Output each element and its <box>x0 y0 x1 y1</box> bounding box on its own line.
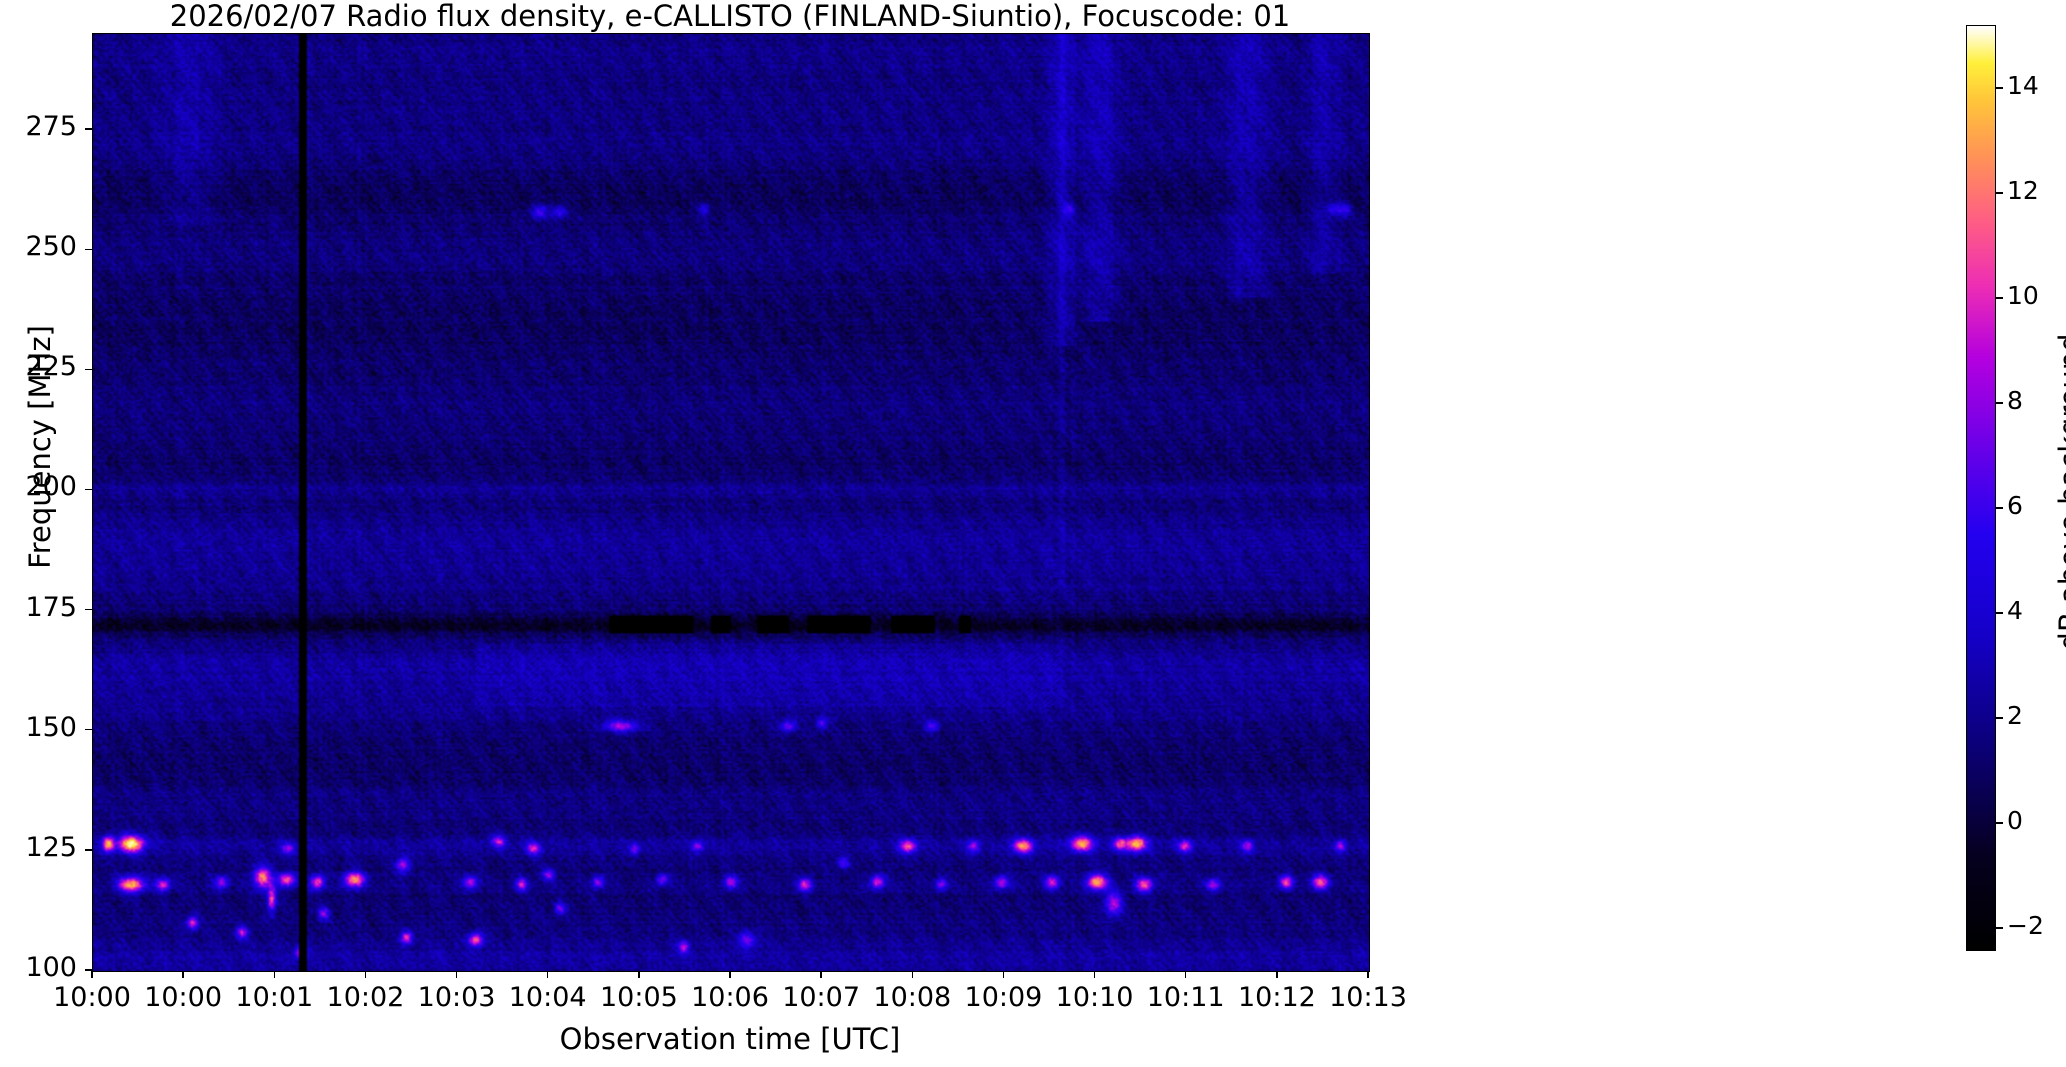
x-tick-mark <box>274 971 275 978</box>
x-tick-label: 10:01 <box>235 982 313 1013</box>
x-tick-mark <box>638 971 639 978</box>
x-tick-mark <box>912 971 913 978</box>
figure-root: 2026/02/07 Radio flux density, e-CALLIST… <box>0 0 2066 1067</box>
y-tick-label: 250 <box>0 231 77 262</box>
x-tick-label: 10:00 <box>53 982 131 1013</box>
x-tick-mark <box>91 971 92 978</box>
x-tick-label: 10:09 <box>965 982 1043 1013</box>
x-tick-mark <box>1003 971 1004 978</box>
spectrogram-axes[interactable] <box>92 33 1370 972</box>
x-tick-mark <box>182 971 183 978</box>
x-tick-label: 10:07 <box>782 982 860 1013</box>
y-tick-label: 175 <box>0 592 77 623</box>
y-tick-mark <box>85 249 92 250</box>
x-tick-mark <box>1094 971 1095 978</box>
colorbar-tick-mark <box>1996 927 2003 928</box>
colorbar[interactable] <box>1966 25 1996 951</box>
x-tick-label: 10:02 <box>327 982 405 1013</box>
y-tick-mark <box>85 128 92 129</box>
y-tick-label: 200 <box>0 471 77 502</box>
colorbar-tick-mark <box>1996 507 2003 508</box>
colorbar-tick-label: 8 <box>2007 386 2023 415</box>
colorbar-tick-mark <box>1996 612 2003 613</box>
colorbar-tick-label: 6 <box>2007 491 2023 520</box>
x-tick-mark <box>456 971 457 978</box>
colorbar-tick-label: 14 <box>2007 71 2039 100</box>
y-tick-label: 275 <box>0 111 77 142</box>
colorbar-tick-mark <box>1996 87 2003 88</box>
chart-title: 2026/02/07 Radio flux density, e-CALLIST… <box>92 0 1368 33</box>
x-tick-mark <box>365 971 366 978</box>
x-tick-label: 10:03 <box>418 982 496 1013</box>
y-tick-mark <box>85 489 92 490</box>
x-axis-label: Observation time [UTC] <box>92 1022 1368 1056</box>
x-tick-mark <box>1185 971 1186 978</box>
x-tick-mark <box>820 971 821 978</box>
y-tick-mark <box>85 369 92 370</box>
x-tick-label: 10:00 <box>144 982 222 1013</box>
x-tick-mark <box>547 971 548 978</box>
colorbar-tick-mark <box>1996 297 2003 298</box>
y-tick-label: 100 <box>0 952 77 983</box>
x-tick-label: 10:11 <box>1147 982 1225 1013</box>
x-tick-mark <box>1276 971 1277 978</box>
colorbar-tick-label: 2 <box>2007 701 2023 730</box>
colorbar-tick-label: 12 <box>2007 176 2039 205</box>
colorbar-tick-label: 0 <box>2007 806 2023 835</box>
y-tick-label: 150 <box>0 712 77 743</box>
x-tick-label: 10:05 <box>600 982 678 1013</box>
colorbar-tick-mark <box>1996 402 2003 403</box>
x-tick-label: 10:13 <box>1329 982 1407 1013</box>
colorbar-tick-mark <box>1996 822 2003 823</box>
x-tick-label: 10:12 <box>1238 982 1316 1013</box>
y-tick-mark <box>85 849 92 850</box>
x-tick-label: 10:06 <box>691 982 769 1013</box>
colorbar-tick-label: 4 <box>2007 596 2023 625</box>
x-tick-label: 10:10 <box>1056 982 1134 1013</box>
spectrogram-image[interactable] <box>93 34 1369 971</box>
colorbar-tick-label: 10 <box>2007 281 2039 310</box>
y-tick-mark <box>85 609 92 610</box>
colorbar-gradient <box>1967 26 1995 950</box>
colorbar-label: dB above background <box>2053 212 2066 772</box>
x-tick-label: 10:04 <box>509 982 587 1013</box>
colorbar-tick-label: −2 <box>2007 911 2044 940</box>
x-tick-mark <box>1367 971 1368 978</box>
y-tick-label: 125 <box>0 832 77 863</box>
x-tick-label: 10:08 <box>873 982 951 1013</box>
y-tick-label: 225 <box>0 351 77 382</box>
y-tick-mark <box>85 729 92 730</box>
x-tick-mark <box>729 971 730 978</box>
colorbar-tick-mark <box>1996 192 2003 193</box>
colorbar-tick-mark <box>1996 717 2003 718</box>
